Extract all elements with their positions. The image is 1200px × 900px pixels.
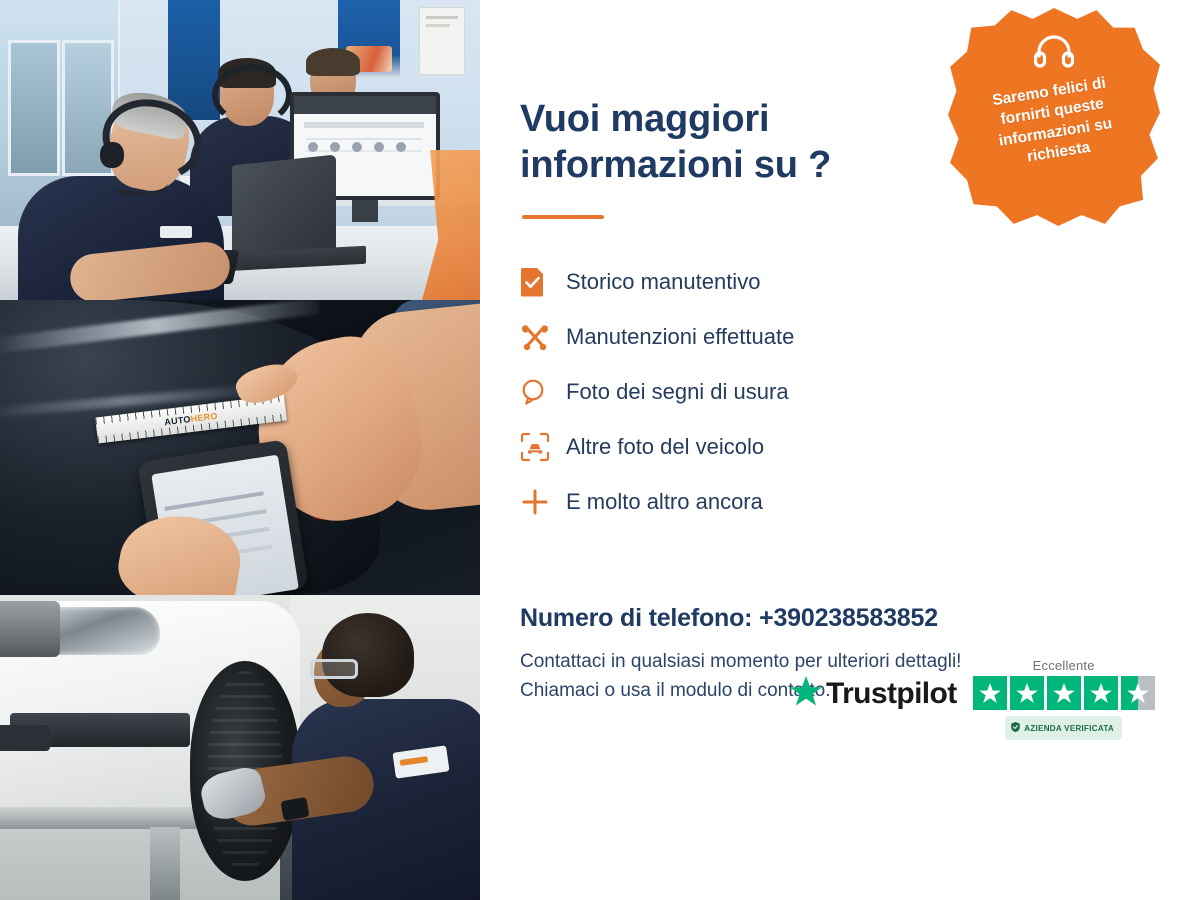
phone-label: Numero di telefono: [520,604,752,632]
vehicle-inspection-ruler-photo: AUTOHERO [0,300,480,595]
content-panel: Vuoi maggiori informazioni su ? Storico … [480,0,1200,900]
promo-badge: Saremo felici di fornirti queste informa… [948,8,1160,226]
feature-label: Foto dei segni di usura [566,379,789,405]
car-lower-vent [0,725,50,751]
trustpilot-wordmark: Trustpilot [826,677,957,711]
feature-label: Storico manutentivo [566,269,760,295]
promo-page: AUTOHERO [0,0,1200,900]
feature-label: Manutenzioni effettuate [566,324,794,350]
plus-icon [520,487,566,517]
foreground-agent [18,98,228,300]
feature-item-molto-altro: E molto altro ancora [520,475,1200,530]
phone-line: Numero di telefono: +390238583852 [520,604,1200,633]
rating-label: Eccellente [1033,658,1095,673]
trustpilot-logo: Trustpilot [790,676,957,712]
contact-line-2: Chiamaci o usa il modulo di contatto. [520,680,831,701]
mechanic [298,613,480,900]
star-filled [1047,676,1081,710]
feature-item-storico-manutentivo: Storico manutentivo [520,255,1200,310]
status-badge: AZIENDA VERIFICATA [1005,716,1122,740]
magnifier-icon [520,378,566,406]
monitor-stand [352,200,378,222]
wall-paper-sheet [420,8,464,74]
star-rating [973,676,1155,710]
car-grille [0,601,60,657]
feature-label: E molto altro ancora [566,489,763,515]
star-filled [1010,676,1044,710]
trustpilot-star-icon [790,676,822,712]
trustpilot-rating[interactable]: Trustpilot Eccellente [790,658,1155,740]
agent-badge [160,226,192,238]
photo-column: AUTOHERO [0,0,480,900]
headset-icon [1034,34,1074,75]
star-filled [1084,676,1118,710]
trustpilot-score: Eccellente [973,658,1155,740]
feature-item-manutenzioni-effettuate: Manutenzioni effettuate [520,310,1200,365]
headline-line-2: informazioni su ? [520,144,831,186]
title-divider [522,215,604,219]
mechanic-wheel-service-photo [0,595,480,900]
document-check-icon [520,267,566,297]
laptop-screen [232,155,336,264]
call-center-agents-photo [0,0,480,300]
verified-label: AZIENDA VERIFICATA [1024,724,1114,733]
mechanic-hair [322,613,414,697]
phone-number[interactable]: +390238583852 [759,604,938,632]
headset-earcup [100,142,124,168]
page-title: Vuoi maggiori informazioni su ? [520,96,940,189]
star-half [1121,676,1155,710]
crossed-tools-icon [520,322,566,352]
feature-label: Altre foto del veicolo [566,434,764,460]
car-scan-icon [520,432,566,462]
star-filled [973,676,1007,710]
headline-line-1: Vuoi maggiori [520,98,769,140]
shield-check-icon [1011,719,1020,737]
lift-post [150,827,180,900]
feature-item-altre-foto-veicolo: Altre foto del veicolo [520,420,1200,475]
safety-glasses-icon [310,659,358,679]
feature-item-foto-segni-usura: Foto dei segni di usura [520,365,1200,420]
feature-list: Storico manutentivo Manutenzi [520,255,1200,530]
